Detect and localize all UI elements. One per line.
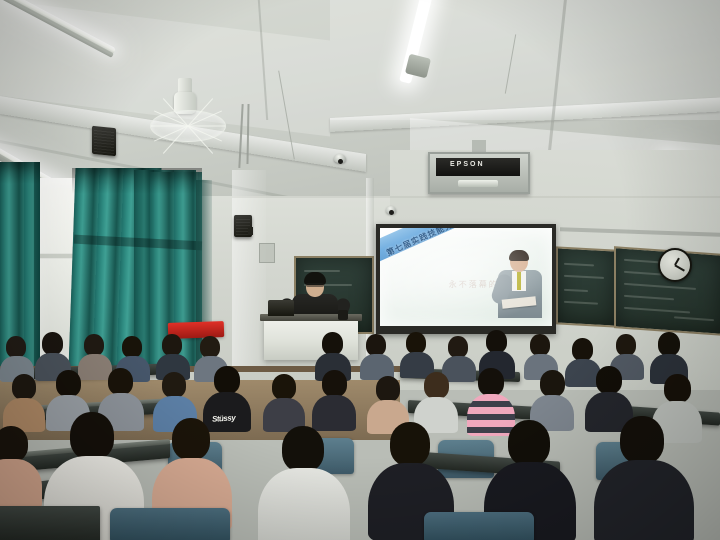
wall-outlet — [259, 243, 275, 263]
curtain-header — [72, 168, 202, 194]
blackboard-right-a — [556, 246, 616, 327]
projector-lens — [458, 180, 498, 187]
fan-cage — [150, 110, 226, 142]
chair-back — [424, 512, 534, 540]
dome-camera — [386, 206, 396, 214]
lectern-microphone — [338, 310, 348, 320]
shirt-logo-text: Stüssy — [212, 413, 236, 424]
wall-speaker-left — [92, 126, 116, 157]
wall-clock — [658, 248, 692, 282]
chair-back — [110, 508, 230, 540]
lecture-hall-photo: EPSON 第七届实践技能竞赛 永不落幕的竞争 — [0, 0, 720, 540]
speaker-bracket — [248, 227, 253, 235]
tablet-arm-desk — [0, 506, 100, 540]
ceiling-projector: EPSON — [428, 152, 530, 194]
wall-trim — [232, 196, 720, 198]
dome-camera — [334, 154, 346, 163]
lectern-laptop — [268, 300, 294, 316]
presenter-glasses — [306, 283, 324, 287]
audience-area: Stüssy — [0, 330, 720, 540]
projection-screen: 第七届实践技能竞赛 永不落幕的竞争 — [380, 228, 552, 326]
projector-brand-label: EPSON — [450, 161, 485, 168]
clock-minute-hand — [675, 264, 685, 271]
projector-mount — [472, 140, 486, 152]
screen-glow — [380, 228, 552, 326]
curtain-header — [0, 162, 40, 184]
ceiling-fan — [148, 84, 226, 142]
